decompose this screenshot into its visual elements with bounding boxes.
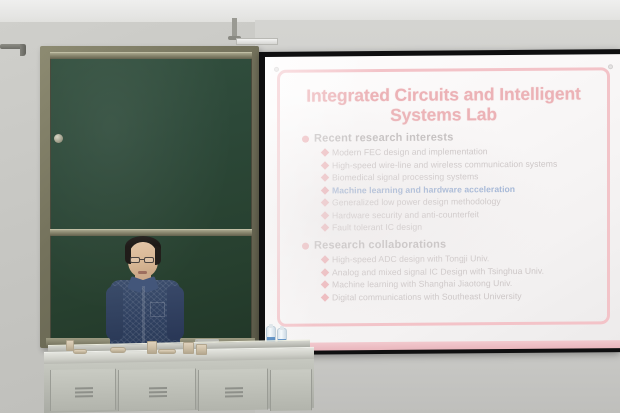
ceiling-pipe-elbow: [20, 44, 26, 56]
list-item-label: Modern FEC design and implementation: [332, 146, 488, 157]
list-item-label: Digital communications with Southeast Un…: [332, 290, 522, 301]
section-item-list: Modern FEC design and implementation Hig…: [293, 145, 594, 232]
slide-section-recent-research-interests: Recent research interests Modern FEC des…: [293, 130, 594, 232]
arm-left: [106, 286, 123, 340]
list-item-label: High-speed wire-line and wireless commun…: [332, 158, 557, 170]
section-item-list: High-speed ADC design with Tongji Univ. …: [293, 252, 594, 302]
glasses-left-lens-icon: [130, 257, 140, 263]
projector-screen: Realtime Integrated Circuits and Intelli…: [259, 49, 620, 355]
list-item-label: Fault tolerant IC design: [332, 222, 422, 233]
bottle-cap: [280, 326, 284, 330]
diamond-bullet-icon: [321, 255, 329, 263]
cabinet-door[interactable]: [118, 369, 196, 411]
list-item: High-speed wire-line and wireless commun…: [322, 158, 594, 170]
cabinet-door[interactable]: [270, 369, 312, 411]
hair-right: [155, 246, 161, 265]
section-heading-label: Recent research interests: [314, 131, 454, 144]
diamond-bullet-icon: [321, 198, 329, 206]
diamond-bullet-icon: [321, 186, 329, 194]
slide-title: Integrated Circuits and Intelligent Syst…: [293, 83, 594, 125]
shirt-pocket: [150, 302, 165, 317]
cabinet-vent-slot: [149, 387, 167, 389]
slide-content: Integrated Circuits and Intelligent Syst…: [281, 71, 606, 324]
wooden-block: [183, 342, 194, 354]
section-heading-row: Research collaborations: [302, 237, 594, 251]
cabinet-vent-slot: [75, 387, 93, 389]
cabinet-door[interactable]: [50, 369, 116, 411]
cabinet-vent-slot: [149, 395, 167, 397]
cabinet-vent-slot: [225, 387, 243, 389]
diamond-bullet-icon: [321, 280, 329, 288]
cabinet-vent-slot: [149, 391, 167, 393]
diamond-bullet-icon: [321, 268, 329, 276]
slide-title-line-2: Systems Lab: [293, 103, 594, 125]
cabinet-vent-slot: [75, 395, 93, 397]
list-item: Hardware security and anti-counterfeit: [322, 208, 594, 220]
circle-bullet-icon: [302, 242, 309, 249]
slide-corner-top-left: [274, 67, 279, 72]
list-item: Biomedical signal processing systems: [322, 170, 594, 182]
diamond-bullet-icon: [321, 173, 329, 181]
list-item-label: Generalized low power design methodology: [332, 196, 501, 207]
arm-right: [167, 286, 184, 340]
wooden-block: [73, 349, 87, 354]
classroom-scene: Realtime Integrated Circuits and Intelli…: [0, 0, 620, 413]
wooden-block: [196, 344, 207, 355]
list-item-label: Analog and mixed signal IC Design with T…: [332, 265, 544, 277]
shirt-placket: [142, 286, 145, 346]
list-item: Machine learning with Shanghai Jiaotong …: [322, 277, 594, 289]
wooden-block: [110, 347, 126, 353]
glasses-bridge: [140, 259, 144, 260]
screen-bottom-band: [265, 340, 620, 351]
diamond-bullet-icon: [321, 211, 329, 219]
diamond-bullet-icon: [321, 293, 329, 301]
list-item: Analog and mixed signal IC Design with T…: [322, 265, 594, 277]
cabinet-vent-slot: [75, 391, 93, 393]
slide-section-research-collaborations: Research collaborations High-speed ADC d…: [293, 237, 594, 302]
list-item-label: Machine learning and hardware accelerati…: [332, 183, 515, 194]
cabinet-vent-slot: [225, 391, 243, 393]
diamond-bullet-icon: [321, 148, 329, 156]
chalkboard-rail-top: [50, 52, 252, 59]
wooden-block: [147, 341, 157, 354]
slide-corner-top-right: [608, 64, 613, 69]
section-heading-row: Recent research interests: [302, 130, 594, 144]
list-item-label: Hardware security and anti-counterfeit: [332, 209, 479, 220]
list-item-label: Biomedical signal processing systems: [332, 171, 479, 182]
diamond-bullet-icon: [321, 161, 329, 169]
slide-title-line-1: Integrated Circuits and Intelligent: [293, 83, 594, 105]
list-item: High-speed ADC design with Tongji Univ.: [322, 252, 594, 264]
cabinet-vent-slot: [225, 395, 243, 397]
chalkboard-knob: [54, 134, 63, 143]
section-heading-label: Research collaborations: [314, 239, 446, 252]
list-item-label: Machine learning with Shanghai Jiaotong …: [332, 278, 512, 289]
wooden-block: [158, 349, 176, 354]
list-item: Modern FEC design and implementation: [322, 145, 594, 157]
glasses-right-lens-icon: [144, 257, 154, 263]
list-item: Generalized low power design methodology: [322, 195, 594, 207]
list-item-label: High-speed ADC design with Tongji Univ.: [332, 253, 489, 264]
bottle-cap: [269, 324, 273, 328]
list-item-highlighted: Machine learning and hardware accelerati…: [322, 183, 594, 195]
wall-below-screen: [300, 352, 620, 413]
presenter: [104, 228, 188, 358]
list-item: Digital communications with Southeast Un…: [322, 290, 594, 302]
circle-bullet-icon: [302, 135, 309, 142]
list-item: Fault tolerant IC design: [322, 220, 594, 232]
projected-slide: Integrated Circuits and Intelligent Syst…: [265, 54, 620, 344]
diamond-bullet-icon: [321, 223, 329, 231]
screen-mount-rail: [236, 38, 278, 45]
cabinet-door[interactable]: [198, 369, 268, 411]
